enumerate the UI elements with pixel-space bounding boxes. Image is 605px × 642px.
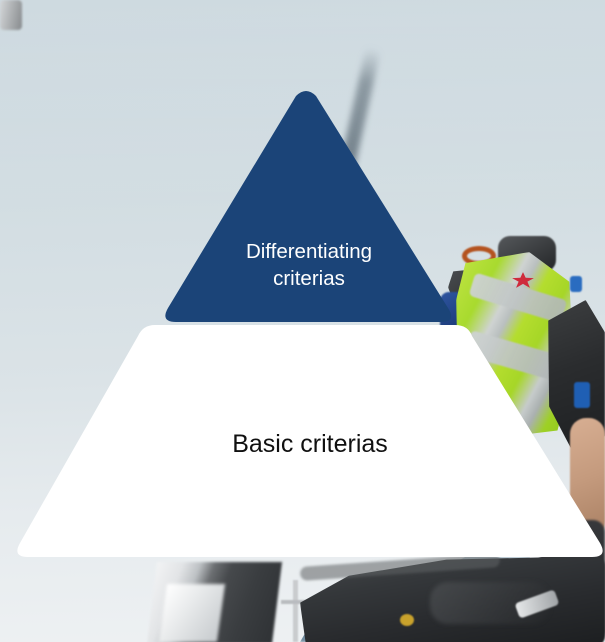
slide-canvas: Differentiating criterias Basic criteria… (0, 0, 605, 642)
pyramid-base-label: Basic criterias (60, 428, 560, 461)
pyramid-layer-top[interactable] (0, 0, 605, 642)
pyramid-top-label: Differentiating criterias (168, 238, 450, 292)
pyramid-top-shape (0, 0, 605, 642)
